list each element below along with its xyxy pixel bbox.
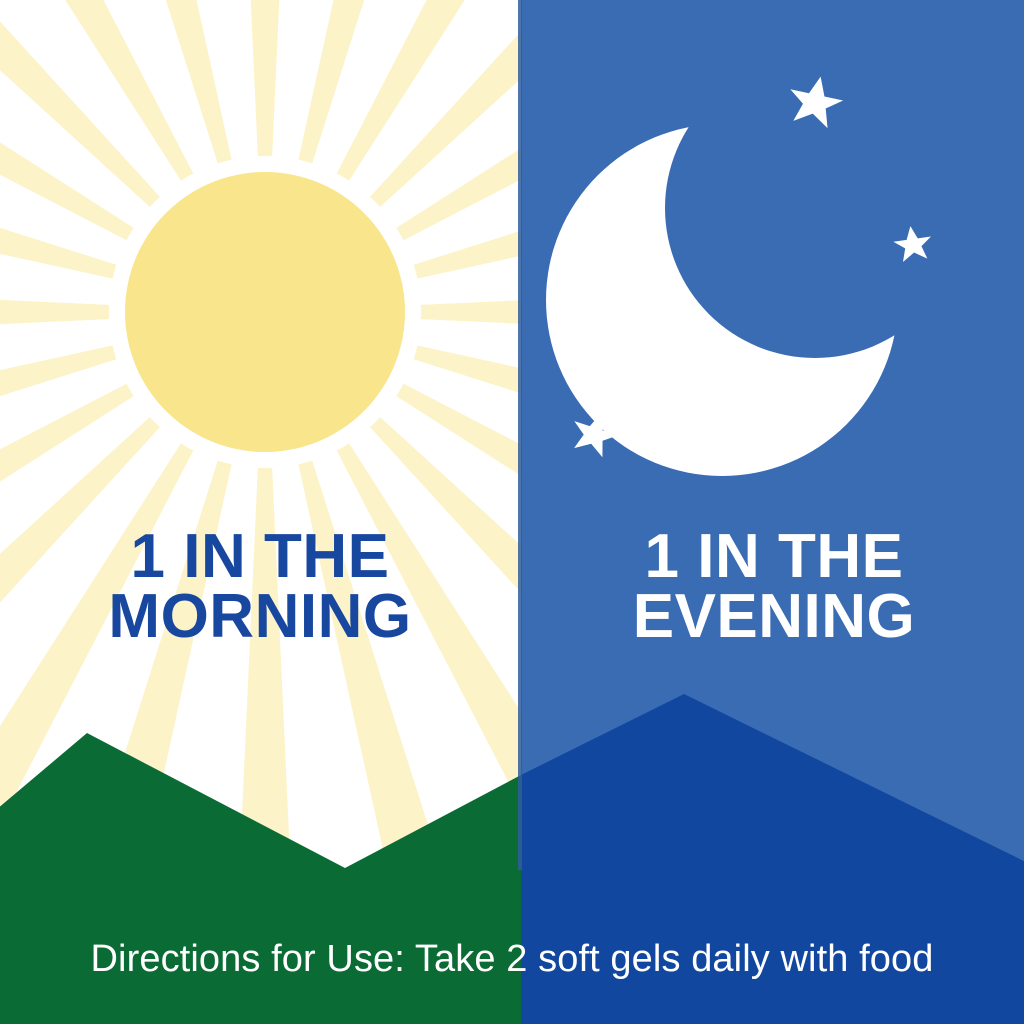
directions-for-use-text: Directions for Use: Take 2 soft gels dai… — [0, 938, 1024, 981]
infographic-artwork — [0, 0, 1024, 1024]
evening-panel — [521, 0, 1024, 1024]
dosage-infographic: 1 IN THE MORNING 1 IN THE EVENING Direct… — [0, 0, 1024, 1024]
sun-icon — [125, 172, 405, 452]
panel-divider — [518, 0, 522, 870]
